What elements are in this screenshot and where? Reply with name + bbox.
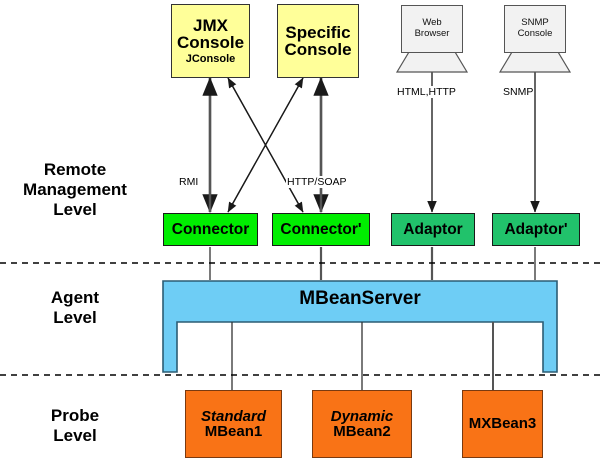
- level-remote-line3: Level: [0, 200, 150, 220]
- level-probe-line1: Probe: [0, 406, 150, 426]
- link-specificconsole-connector: [228, 78, 303, 212]
- adaptor-prime-label: Adaptor': [504, 222, 567, 238]
- connector-prime-label: Connector': [280, 222, 361, 238]
- protocol-label-html-http: HTML,HTTP: [396, 86, 457, 98]
- level-remote-line1: Remote: [0, 160, 150, 180]
- snmp-console-line2: Console: [518, 29, 553, 40]
- dynamic-mbean2-name: MBean2: [333, 424, 391, 439]
- node-standard-mbean1[interactable]: Standard MBean1: [185, 390, 282, 458]
- mxbean3-name: MXBean3: [469, 416, 537, 431]
- mbeanserver-label: MBeanServer: [163, 288, 557, 310]
- web-browser-line2: Browser: [415, 29, 450, 40]
- client-snmp-console[interactable]: SNMP Console: [504, 5, 566, 53]
- web-browser-stand: [397, 52, 467, 72]
- standard-mbean1-emphasis: Standard: [201, 409, 266, 424]
- link-jmxconsole-connectorprime: [228, 78, 303, 212]
- jmx-console-line2: Console: [177, 34, 244, 52]
- dynamic-mbean2-emphasis: Dynamic: [331, 409, 394, 424]
- protocol-label-http-soap: HTTP/SOAP: [286, 176, 348, 188]
- protocol-label-snmp: SNMP: [502, 86, 534, 98]
- level-remote-line2: Management: [0, 180, 150, 200]
- level-label-probe: Probe Level: [0, 406, 150, 446]
- level-label-agent: Agent Level: [0, 288, 150, 328]
- node-connector-prime[interactable]: Connector': [272, 213, 370, 246]
- link-connectorprime-jmxconsole: [228, 78, 303, 212]
- node-connector[interactable]: Connector: [163, 213, 258, 246]
- adaptor-label: Adaptor: [403, 222, 462, 238]
- node-dynamic-mbean2[interactable]: Dynamic MBean2: [312, 390, 412, 458]
- specific-console-line2: Console: [284, 41, 351, 59]
- client-specific-console[interactable]: Specific Console: [277, 4, 359, 78]
- node-mxbean3[interactable]: MXBean3: [462, 390, 543, 458]
- level-agent-line1: Agent: [0, 288, 150, 308]
- client-web-browser[interactable]: Web Browser: [401, 5, 463, 53]
- jmx-console-sublabel: JConsole: [186, 54, 236, 65]
- protocol-label-rmi: RMI: [178, 176, 199, 188]
- link-connector-specificconsole: [228, 78, 303, 212]
- jmx-console-line1: JMX: [193, 17, 228, 35]
- level-label-remote: Remote Management Level: [0, 160, 150, 220]
- snmp-console-stand: [500, 52, 570, 72]
- node-adaptor-prime[interactable]: Adaptor': [492, 213, 580, 246]
- level-agent-line2: Level: [0, 308, 150, 328]
- node-adaptor[interactable]: Adaptor: [391, 213, 475, 246]
- specific-console-line1: Specific: [285, 24, 350, 42]
- standard-mbean1-name: MBean1: [205, 424, 263, 439]
- jmx-architecture-diagram: JMX Console JConsole Specific Console We…: [0, 0, 600, 468]
- client-jmx-console[interactable]: JMX Console JConsole: [171, 4, 250, 78]
- connector-label: Connector: [172, 222, 250, 238]
- level-probe-line2: Level: [0, 426, 150, 446]
